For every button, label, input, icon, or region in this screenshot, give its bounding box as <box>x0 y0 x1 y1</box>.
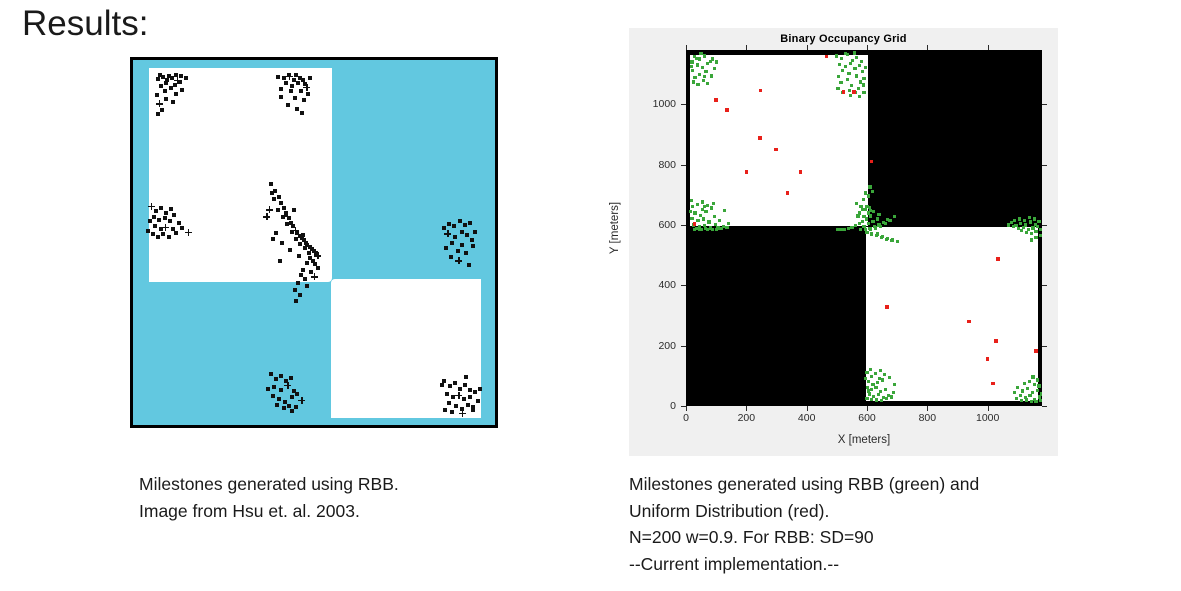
x-axis-tick-label: 200 <box>738 412 756 424</box>
y-axis-tick-label: 0 <box>670 400 676 412</box>
scatter-point <box>1030 238 1033 241</box>
scatter-point <box>714 98 718 102</box>
scatter-point <box>858 222 861 225</box>
scatter-point <box>880 399 883 402</box>
milestone-dot <box>458 219 462 223</box>
milestone-dot <box>284 382 291 389</box>
scatter-point <box>864 191 867 194</box>
milestone-dot <box>287 404 291 408</box>
milestone-dot <box>468 221 472 225</box>
milestone-dot <box>171 100 175 104</box>
milestone-dot <box>163 89 167 93</box>
x-axis-tick-top <box>927 45 928 50</box>
milestone-dot <box>303 277 307 281</box>
y-axis-tick <box>681 104 686 105</box>
scatter-point <box>862 215 865 218</box>
scatter-point <box>712 202 715 205</box>
scatter-point <box>858 64 861 67</box>
scatter-point <box>869 368 872 371</box>
scatter-point <box>1034 349 1038 353</box>
milestone-dot <box>473 230 477 234</box>
milestone-dot <box>279 388 283 392</box>
scatter-point <box>874 372 877 375</box>
y-axis-tick-label: 400 <box>658 279 676 291</box>
x-axis-tick <box>988 406 989 411</box>
scatter-point <box>881 378 884 381</box>
scatter-point <box>704 210 707 213</box>
milestone-dot <box>278 259 282 263</box>
scatter-point <box>855 56 858 59</box>
milestone-dot <box>282 206 286 210</box>
scatter-point <box>862 91 865 94</box>
scatter-point <box>690 199 693 202</box>
milestone-dot <box>290 230 294 234</box>
milestone-dot <box>311 273 318 280</box>
scatter-point <box>991 382 995 386</box>
scatter-point <box>710 74 713 77</box>
milestone-dot <box>280 241 284 245</box>
scatter-point <box>696 219 699 222</box>
milestone-dot <box>294 405 298 409</box>
x-axis-tick-top <box>988 45 989 50</box>
milestone-dot <box>455 257 462 264</box>
scatter-point <box>877 393 880 396</box>
scatter-point <box>875 398 878 401</box>
scatter-point <box>1034 400 1037 403</box>
scatter-point <box>703 205 706 208</box>
x-axis-tick-label: 1000 <box>976 412 999 424</box>
scatter-point <box>1025 231 1028 234</box>
milestone-dot <box>279 374 283 378</box>
scatter-point <box>854 224 857 227</box>
scatter-point <box>856 214 859 217</box>
x-axis-tick-label: 600 <box>858 412 876 424</box>
scatter-point <box>883 373 886 376</box>
milestone-dot <box>447 401 451 405</box>
right-figure-caption: Milestones generated using RBB (green) a… <box>629 471 1099 577</box>
scatter-point <box>693 211 696 214</box>
scatter-point <box>876 381 879 384</box>
scatter-point <box>868 206 871 209</box>
milestone-dot <box>174 231 178 235</box>
chart-title: Binary Occupancy Grid <box>629 33 1058 45</box>
scatter-point <box>870 388 873 391</box>
scatter-point <box>1039 228 1042 231</box>
scatter-point <box>1039 399 1042 402</box>
milestone-dot <box>271 237 275 241</box>
milestone-dot <box>289 376 293 380</box>
scatter-point <box>850 84 853 87</box>
milestone-dot <box>279 95 283 99</box>
scatter-point <box>876 232 879 235</box>
milestone-scatter-layer <box>133 60 495 425</box>
milestone-dot <box>276 208 280 212</box>
scatter-point <box>703 54 706 57</box>
milestone-dot <box>450 410 454 414</box>
scatter-point <box>861 208 864 211</box>
scatter-point <box>837 75 840 78</box>
milestone-dot <box>449 255 453 259</box>
scatter-point <box>967 320 971 324</box>
scatter-point <box>699 52 702 55</box>
milestone-dot <box>444 230 451 237</box>
scatter-point <box>1034 230 1037 233</box>
scatter-point <box>835 54 838 57</box>
scatter-point <box>859 228 862 231</box>
scatter-point <box>689 210 692 213</box>
scatter-point <box>1028 216 1031 219</box>
milestone-dot <box>447 222 451 226</box>
milestone-dot <box>282 406 286 410</box>
scatter-point <box>1030 400 1033 403</box>
scatter-point <box>691 205 694 208</box>
scatter-point <box>1036 389 1039 392</box>
scatter-point <box>870 232 873 235</box>
y-axis-label: Y [meters] <box>609 202 621 254</box>
scatter-point <box>713 215 716 218</box>
scatter-point <box>848 89 851 92</box>
scatter-point <box>707 220 710 223</box>
scatter-point <box>986 357 990 361</box>
scatter-point <box>693 228 696 231</box>
milestone-dot <box>157 218 161 222</box>
scatter-point <box>704 227 707 230</box>
milestone-dot <box>148 219 152 223</box>
scatter-point <box>841 69 844 72</box>
scatter-point <box>849 62 852 65</box>
milestone-dot <box>448 384 452 388</box>
milestone-dot <box>164 211 168 215</box>
milestone-dot <box>172 213 176 217</box>
milestone-dot <box>266 206 273 213</box>
scatter-point <box>852 90 856 94</box>
x-axis-tick-top <box>807 45 808 50</box>
y-axis-tick-right <box>1042 165 1047 166</box>
scatter-point <box>870 375 873 378</box>
scatter-point <box>849 94 852 97</box>
scatter-point <box>874 386 877 389</box>
scatter-point <box>871 190 874 193</box>
scatter-point <box>869 214 872 217</box>
x-axis-tick-top <box>867 45 868 50</box>
scatter-point <box>720 227 723 230</box>
scatter-point <box>758 136 762 140</box>
milestone-dot <box>271 394 275 398</box>
scatter-point <box>774 148 778 152</box>
milestone-dot <box>269 372 273 376</box>
y-axis-tick-label: 600 <box>658 219 676 231</box>
y-axis-tick-label: 1000 <box>653 98 676 110</box>
milestone-dot <box>445 392 449 396</box>
milestone-dot <box>283 400 287 404</box>
scatter-point <box>885 397 888 400</box>
y-axis-tick-right <box>1042 406 1047 407</box>
milestone-dot <box>444 246 448 250</box>
scatter-point <box>874 226 877 229</box>
scatter-point <box>692 80 695 83</box>
milestone-dot <box>277 195 281 199</box>
scatter-point <box>1036 378 1039 381</box>
scatter-point <box>1026 387 1029 390</box>
milestone-dot <box>169 207 173 211</box>
scatter-point <box>865 397 868 400</box>
scatter-point <box>693 222 697 226</box>
scatter-point <box>696 63 699 66</box>
milestone-dot <box>159 84 163 88</box>
milestone-dot <box>454 404 458 408</box>
scatter-point <box>693 76 696 79</box>
scatter-point <box>1028 394 1031 397</box>
scatter-point <box>698 73 701 76</box>
scatter-point <box>881 235 884 238</box>
scatter-point <box>855 202 858 205</box>
scatter-point <box>893 383 896 386</box>
milestone-dot <box>306 92 310 96</box>
milestone-dot <box>152 215 156 219</box>
scatter-point <box>891 238 894 241</box>
milestone-dot <box>443 408 447 412</box>
scatter-point <box>690 60 693 63</box>
scatter-point <box>868 392 871 395</box>
y-axis-tick-right <box>1042 225 1047 226</box>
y-axis-tick-label: 800 <box>658 159 676 171</box>
milestone-dot <box>293 96 297 100</box>
x-axis-tick <box>746 406 747 411</box>
milestone-dot <box>290 395 294 399</box>
scatter-point <box>1034 236 1037 239</box>
milestone-dot <box>298 293 302 297</box>
y-axis-tick <box>681 346 686 347</box>
scatter-point <box>1025 398 1028 401</box>
x-axis-tick-label: 0 <box>683 412 689 424</box>
scatter-point <box>888 219 891 222</box>
binary-occupancy-grid-figure: Binary Occupancy Grid 020040060080010000… <box>629 28 1058 456</box>
scatter-point <box>745 170 749 174</box>
milestone-dot <box>173 83 177 87</box>
scatter-point <box>702 217 705 220</box>
milestone-dot <box>288 248 292 252</box>
y-axis-tick <box>681 225 686 226</box>
milestone-dot <box>440 383 444 387</box>
scatter-point <box>698 57 701 60</box>
milestone-dot <box>275 403 279 407</box>
milestone-dot <box>151 232 155 236</box>
milestone-dot <box>462 397 466 401</box>
milestone-dot <box>463 223 467 227</box>
milestone-dot <box>179 74 183 78</box>
page-title: Results: <box>22 2 148 46</box>
scatter-point <box>846 78 849 81</box>
milestone-dot <box>463 383 467 387</box>
scatter-point <box>1019 394 1022 397</box>
milestone-dot <box>155 93 159 97</box>
milestone-dot <box>167 235 171 239</box>
milestone-dot <box>301 233 305 237</box>
x-axis-tick <box>867 406 868 411</box>
scatter-point <box>836 228 839 231</box>
scatter-point <box>701 66 704 69</box>
milestone-dot <box>466 403 470 407</box>
milestone-dot <box>279 87 283 91</box>
milestone-dot <box>274 231 278 235</box>
milestone-dot <box>296 281 300 285</box>
milestone-dot <box>459 410 466 417</box>
milestone-dot <box>163 216 167 220</box>
milestone-dot <box>184 76 188 80</box>
milestone-dot <box>471 244 475 248</box>
scatter-point <box>884 222 887 225</box>
scatter-point <box>842 90 846 94</box>
scatter-point <box>877 213 880 216</box>
scatter-point <box>885 305 889 309</box>
scatter-point <box>725 108 729 112</box>
scatter-point <box>1007 223 1010 226</box>
scatter-point <box>844 52 847 55</box>
milestone-dot <box>164 97 168 101</box>
scatter-point <box>855 74 858 77</box>
scatter-point <box>862 83 865 86</box>
scatter-point <box>1012 225 1015 228</box>
milestone-dot <box>305 284 309 288</box>
scatter-point <box>867 389 870 392</box>
scatter-point <box>870 398 873 401</box>
scatter-point <box>723 209 726 212</box>
scatter-point <box>1015 397 1018 400</box>
scatter-point <box>696 203 699 206</box>
scatter-point <box>1023 219 1026 222</box>
scatter-point <box>996 257 1000 261</box>
y-axis-tick-label: 200 <box>658 340 676 352</box>
scatter-point <box>884 388 887 391</box>
scatter-point <box>1028 380 1031 383</box>
milestone-dot <box>293 288 297 292</box>
milestone-dot <box>290 84 294 88</box>
milestone-dot <box>146 229 150 233</box>
scatter-point <box>690 65 693 68</box>
x-axis-tick-label: 800 <box>919 412 937 424</box>
milestone-dot <box>307 251 311 255</box>
milestone-dot <box>263 213 270 220</box>
scatter-point <box>864 66 867 69</box>
milestone-dot <box>308 76 312 80</box>
scatter-point <box>870 160 874 164</box>
scatter-point <box>1013 219 1016 222</box>
scatter-point <box>1037 384 1040 387</box>
scatter-point <box>1016 386 1019 389</box>
scatter-point <box>850 226 853 229</box>
plot-axes: 0200400600800100002004006008001000 <box>686 50 1042 406</box>
scatter-point <box>876 217 879 220</box>
scatter-point <box>879 369 882 372</box>
milestone-dot <box>296 81 300 85</box>
milestone-dot <box>302 98 306 102</box>
milestone-dot <box>270 191 274 195</box>
milestone-dot <box>298 397 305 404</box>
milestone-dot <box>174 92 178 96</box>
y-axis-tick-right <box>1042 104 1047 105</box>
y-axis-tick-right <box>1042 285 1047 286</box>
milestone-dot <box>156 100 163 107</box>
scatter-point <box>840 57 843 60</box>
milestone-dot <box>453 235 457 239</box>
milestone-dot <box>478 387 482 391</box>
scatter-point <box>1040 392 1042 395</box>
y-axis-tick <box>681 165 686 166</box>
scatter-point <box>847 227 850 230</box>
scatter-point <box>1030 232 1033 235</box>
scatter-point <box>1031 375 1034 378</box>
milestone-dot <box>158 73 162 77</box>
milestone-dot <box>180 88 184 92</box>
milestone-dot <box>294 73 298 77</box>
milestone-dot <box>277 397 281 401</box>
milestone-dot <box>452 224 456 228</box>
milestone-dot <box>284 81 288 85</box>
milestone-dot <box>160 108 164 112</box>
x-axis-tick-label: 400 <box>798 412 816 424</box>
scatter-point <box>706 62 709 65</box>
milestone-dot <box>295 392 299 396</box>
milestone-dot <box>272 197 276 201</box>
hsu-rbb-milestones-image <box>130 57 498 428</box>
milestone-dot <box>467 263 471 267</box>
scatter-point <box>864 377 867 380</box>
milestone-dot <box>269 182 273 186</box>
scatter-point <box>839 81 842 84</box>
y-axis-tick <box>681 406 686 407</box>
milestone-dot <box>284 213 288 217</box>
milestone-dot <box>460 243 464 247</box>
scatter-point <box>867 194 870 197</box>
scatter-point <box>1029 220 1032 223</box>
scatter-point <box>696 83 699 86</box>
y-axis-tick-right <box>1042 346 1047 347</box>
scatter-point <box>867 222 870 225</box>
milestone-dot <box>289 89 293 93</box>
scatter-point <box>786 191 790 195</box>
scatter-point <box>853 51 856 54</box>
x-axis-tick <box>807 406 808 411</box>
scatter-point <box>1033 217 1036 220</box>
scatter-point <box>857 87 860 90</box>
scatter-point <box>725 226 728 229</box>
scatter-point <box>825 55 829 59</box>
milestone-dot <box>464 375 468 379</box>
scatter-point <box>709 226 712 229</box>
milestone-dot <box>471 408 475 412</box>
scatter-point <box>890 395 893 398</box>
scatter-point <box>691 69 694 72</box>
scatter-point <box>869 228 872 231</box>
milestone-dot <box>274 377 278 381</box>
scatter-point <box>701 200 704 203</box>
milestone-dot <box>303 246 307 250</box>
scatter-point <box>879 225 882 228</box>
left-figure-caption: Milestones generated using RBB. Image fr… <box>139 471 559 524</box>
x-axis-tick-top <box>746 45 747 50</box>
scatter-point <box>1018 217 1021 220</box>
milestone-dot <box>316 266 320 270</box>
milestone-dot <box>297 254 301 258</box>
scatter-point <box>871 220 874 223</box>
scatter-point <box>1013 391 1016 394</box>
scatter-point <box>865 231 868 234</box>
x-axis-label: X [meters] <box>686 434 1042 446</box>
scatter-point <box>836 87 839 90</box>
milestone-dot <box>294 299 298 303</box>
milestone-dot <box>458 387 462 391</box>
milestone-dot <box>177 221 181 225</box>
